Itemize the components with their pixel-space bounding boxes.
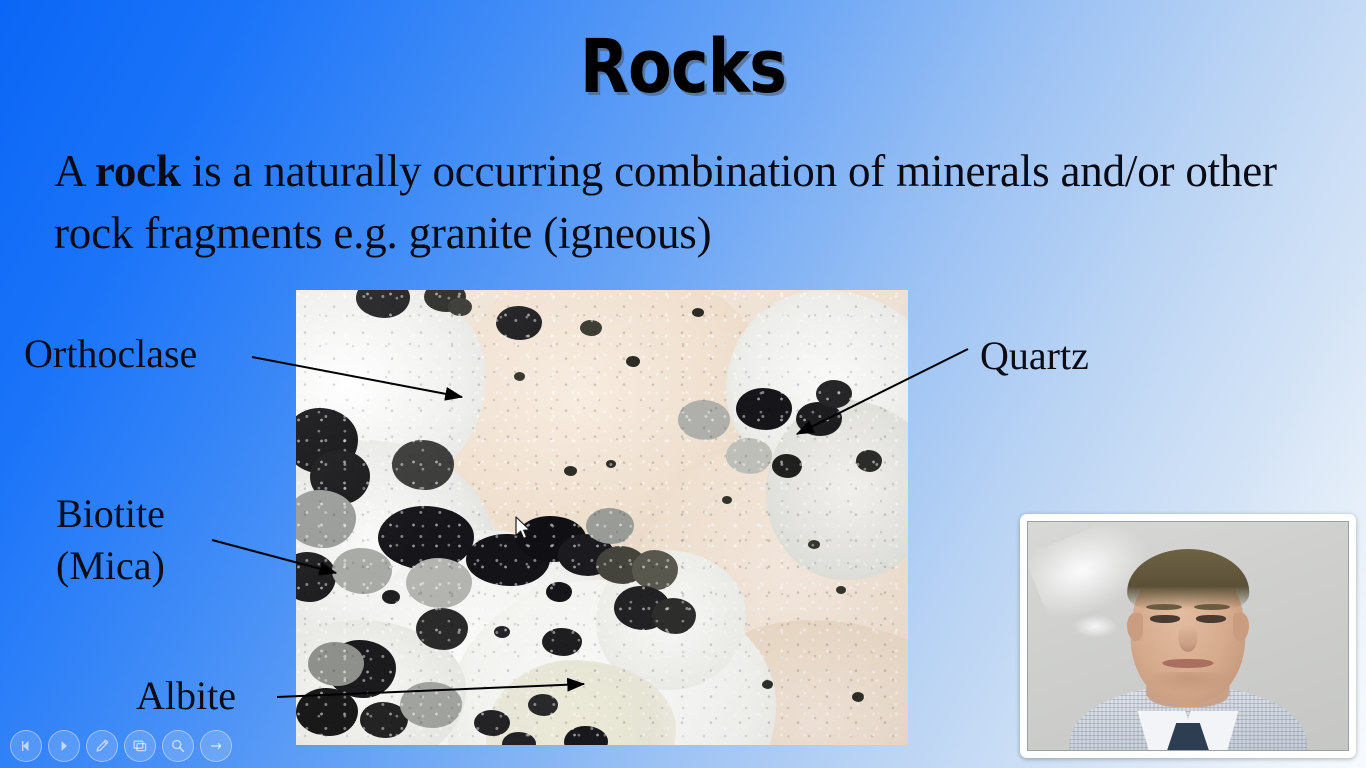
all-slides-button[interactable] <box>124 730 156 762</box>
mineral-crystal-biotite <box>852 692 864 702</box>
pen-icon <box>94 738 110 754</box>
webcam-video-feed <box>1027 521 1349 751</box>
callout-label-biotite-line2: (Mica) <box>56 540 165 592</box>
mineral-crystal-biotite <box>474 710 510 736</box>
mineral-crystal-biotite <box>416 608 468 650</box>
mineral-crystal-biotite <box>448 298 472 316</box>
magnifier-icon <box>170 738 186 754</box>
presenter-eyebrow-right <box>1194 604 1229 610</box>
granite-specimen-image <box>296 290 908 745</box>
mineral-crystal-quartz-grey <box>678 400 730 440</box>
previous-slide-icon <box>19 739 33 753</box>
mineral-crystal-biotite <box>606 460 616 468</box>
callout-label-orthoclase: Orthoclase <box>24 328 197 380</box>
slide-body-text: A rock is a naturally occurring combinat… <box>54 140 1324 264</box>
body-line1-prefix: A <box>54 146 95 196</box>
webcam-overlay[interactable] <box>1020 514 1356 758</box>
callout-label-quartz: Quartz <box>980 330 1089 382</box>
next-slide-icon <box>57 739 71 753</box>
mineral-crystal-biotite <box>494 626 510 638</box>
mineral-crystal-quartz-grey <box>332 548 392 594</box>
page-title: Rocks <box>96 26 1271 108</box>
presenter-chin-shadow <box>1146 672 1229 693</box>
mineral-crystal-biotite <box>626 356 640 367</box>
more-options-button[interactable] <box>200 730 232 762</box>
mineral-crystal-biotite <box>736 388 792 430</box>
presenter-mouth <box>1162 659 1213 669</box>
presenter-eyebrow-left <box>1146 604 1181 610</box>
mineral-crystal-biotite <box>528 694 558 716</box>
callout-label-biotite: Biotite (Mica) <box>56 488 165 592</box>
mineral-crystal-quartz-grey <box>400 682 462 728</box>
whiteboard-glare-small <box>1073 615 1118 638</box>
mineral-crystal-biotite <box>496 306 542 340</box>
body-keyword-rock: rock <box>95 146 181 196</box>
mineral-crystal-biotite <box>392 440 454 490</box>
callout-label-albite: Albite <box>136 670 236 722</box>
mineral-crystal-quartz-grey <box>726 438 772 474</box>
presenter-ear-left <box>1127 613 1143 640</box>
mineral-crystal-biotite <box>816 380 852 408</box>
mineral-crystal-biotite <box>762 680 773 689</box>
mineral-crystal-biotite <box>836 586 846 594</box>
slides-thumbnail-icon <box>132 738 148 754</box>
mineral-crystal-biotite <box>772 454 802 478</box>
more-options-icon <box>208 738 224 754</box>
previous-slide-button[interactable] <box>10 730 42 762</box>
mineral-crystal-biotite <box>632 550 678 590</box>
mineral-crystal-biotite <box>652 598 696 634</box>
mineral-crystal-biotite <box>564 466 577 476</box>
playback-toolbar <box>10 730 232 762</box>
next-slide-button[interactable] <box>48 730 80 762</box>
mineral-crystal-biotite <box>580 320 602 336</box>
mineral-crystal-biotite <box>542 628 582 656</box>
mineral-crystal-biotite <box>514 372 525 381</box>
presentation-slide: Rocks A rock is a naturally occurring co… <box>0 0 1366 768</box>
callout-label-biotite-line1: Biotite <box>56 488 165 540</box>
mineral-crystal-biotite <box>546 582 572 602</box>
mineral-crystal-biotite <box>856 450 882 472</box>
mineral-crystal-biotite <box>296 688 358 736</box>
zoom-button[interactable] <box>162 730 194 762</box>
mineral-crystal-biotite <box>808 540 820 549</box>
mineral-crystal-quartz-grey <box>308 642 364 686</box>
mineral-crystal-quartz-grey <box>586 508 634 544</box>
mineral-crystal-biotite <box>722 496 732 504</box>
mineral-crystal-biotite <box>692 308 704 317</box>
mineral-crystal-quartz-grey <box>406 558 472 608</box>
body-line1-suffix: is a naturally occurring combination of … <box>181 146 1050 196</box>
pen-button[interactable] <box>86 730 118 762</box>
presenter-ear-right <box>1233 613 1249 640</box>
mineral-crystal-biotite <box>382 590 400 604</box>
